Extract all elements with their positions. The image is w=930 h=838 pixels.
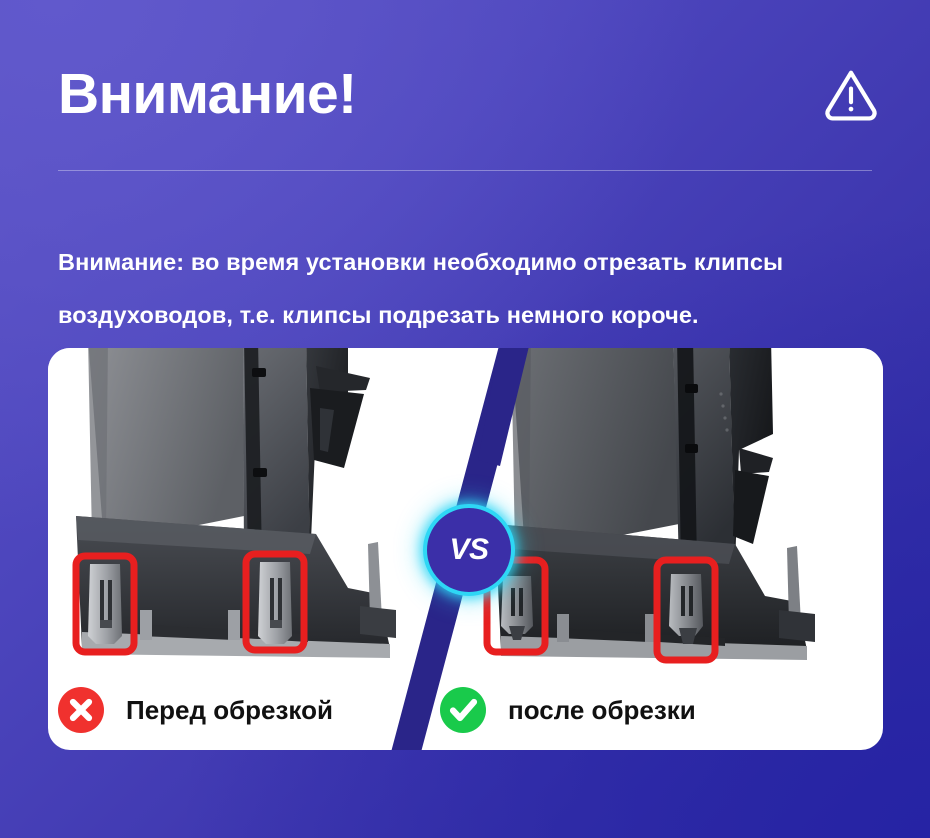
intro-text: Внимание: во время установки необходимо … xyxy=(58,236,888,342)
header-divider xyxy=(58,170,872,171)
photo-after xyxy=(453,348,883,673)
legend-label-before: Перед обрезкой xyxy=(126,695,333,726)
page-title: Внимание! xyxy=(58,66,357,123)
photo-before xyxy=(48,348,478,673)
vs-label: VS xyxy=(449,533,488,567)
warning-triangle-icon xyxy=(822,65,880,123)
cross-circle-icon xyxy=(58,687,104,733)
vs-badge: VS xyxy=(423,504,515,596)
comparison-card: VS Перед обрезкой после обрезки xyxy=(48,348,883,750)
legend-label-after: после обрезки xyxy=(508,695,696,726)
legend-row: Перед обрезкой после обрезки xyxy=(48,673,883,750)
legend-item-after: после обрезки xyxy=(440,687,696,733)
check-circle-icon xyxy=(440,687,486,733)
header: Внимание! xyxy=(58,48,884,140)
legend-item-before: Перед обрезкой xyxy=(58,687,333,733)
warning-poster: Внимание! Внимание: во время установки н… xyxy=(0,0,930,838)
